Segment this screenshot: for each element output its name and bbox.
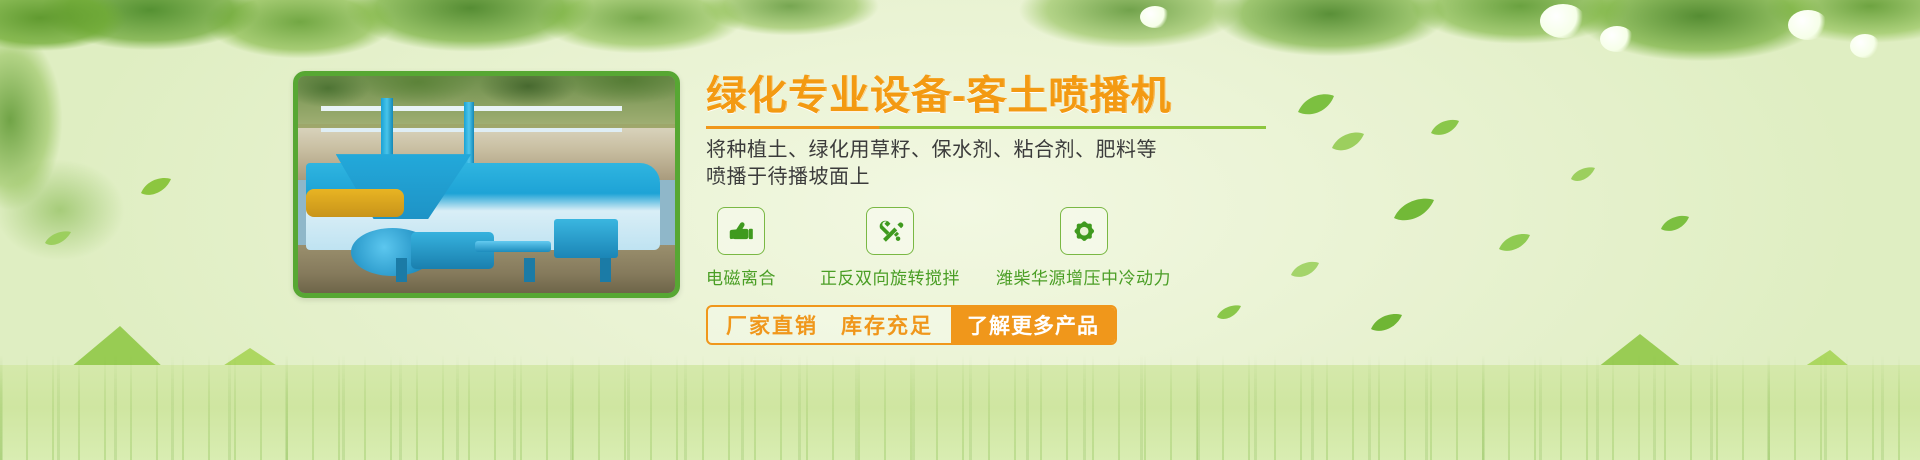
learn-more-button[interactable]: 了解更多产品 xyxy=(951,307,1115,343)
tools-icon xyxy=(875,216,905,246)
feature-icon-box xyxy=(717,207,765,255)
product-photo xyxy=(298,76,675,293)
cta-bar: 厂家直销 库存充足 了解更多产品 xyxy=(706,305,1117,345)
blossom-icon xyxy=(1140,6,1170,28)
feature-item-weichai-power: 潍柴华源增压中冷动力 xyxy=(996,207,1171,289)
feature-label: 电磁离合 xyxy=(706,264,776,289)
feature-icon-box xyxy=(866,207,914,255)
leaf-icon xyxy=(1430,118,1460,138)
foliage-left-decoration xyxy=(0,0,330,300)
subtitle: 将种植土、绿化用草籽、保水剂、粘合剂、肥料等 喷播于待播坡面上 xyxy=(706,137,1426,191)
grass-tufts-decoration xyxy=(0,355,1920,460)
promo-banner: 绿化专业设备-客土喷播机 将种植土、绿化用草籽、保水剂、粘合剂、肥料等 喷播于待… xyxy=(0,0,1920,460)
leaf-icon xyxy=(140,176,172,198)
blossom-icon xyxy=(1600,26,1634,52)
banner-content: 绿化专业设备-客土喷播机 将种植土、绿化用草籽、保水剂、粘合剂、肥料等 喷播于待… xyxy=(706,72,1426,345)
cta-slogan: 厂家直销 库存充足 xyxy=(708,307,951,343)
gear-icon xyxy=(1069,216,1099,246)
feature-label: 潍柴华源增压中冷动力 xyxy=(996,264,1171,289)
subtitle-line-2: 喷播于待播坡面上 xyxy=(706,164,1426,191)
title-divider xyxy=(706,126,1266,129)
subtitle-line-1: 将种植土、绿化用草籽、保水剂、粘合剂、肥料等 xyxy=(706,137,1426,164)
feature-icon-box xyxy=(1060,207,1108,255)
feature-label: 正反双向旋转搅拌 xyxy=(820,264,960,289)
leaf-icon xyxy=(1498,232,1532,254)
blossom-icon xyxy=(1788,10,1828,40)
blossom-icon xyxy=(1540,4,1586,38)
feature-list: 电磁离合 正反双向旋转搅拌 xyxy=(706,207,1426,289)
thumbs-up-icon xyxy=(726,216,756,246)
leaf-icon xyxy=(1660,214,1690,234)
blossom-icon xyxy=(1850,34,1880,58)
page-title: 绿化专业设备-客土喷播机 xyxy=(706,72,1426,120)
product-photo-card xyxy=(293,71,680,298)
leaf-icon xyxy=(1570,166,1596,184)
leaf-icon xyxy=(44,230,72,248)
feature-item-electromagnetic-clutch: 电磁离合 xyxy=(706,207,776,289)
feature-item-bidirectional-mixing: 正反双向旋转搅拌 xyxy=(820,207,960,289)
